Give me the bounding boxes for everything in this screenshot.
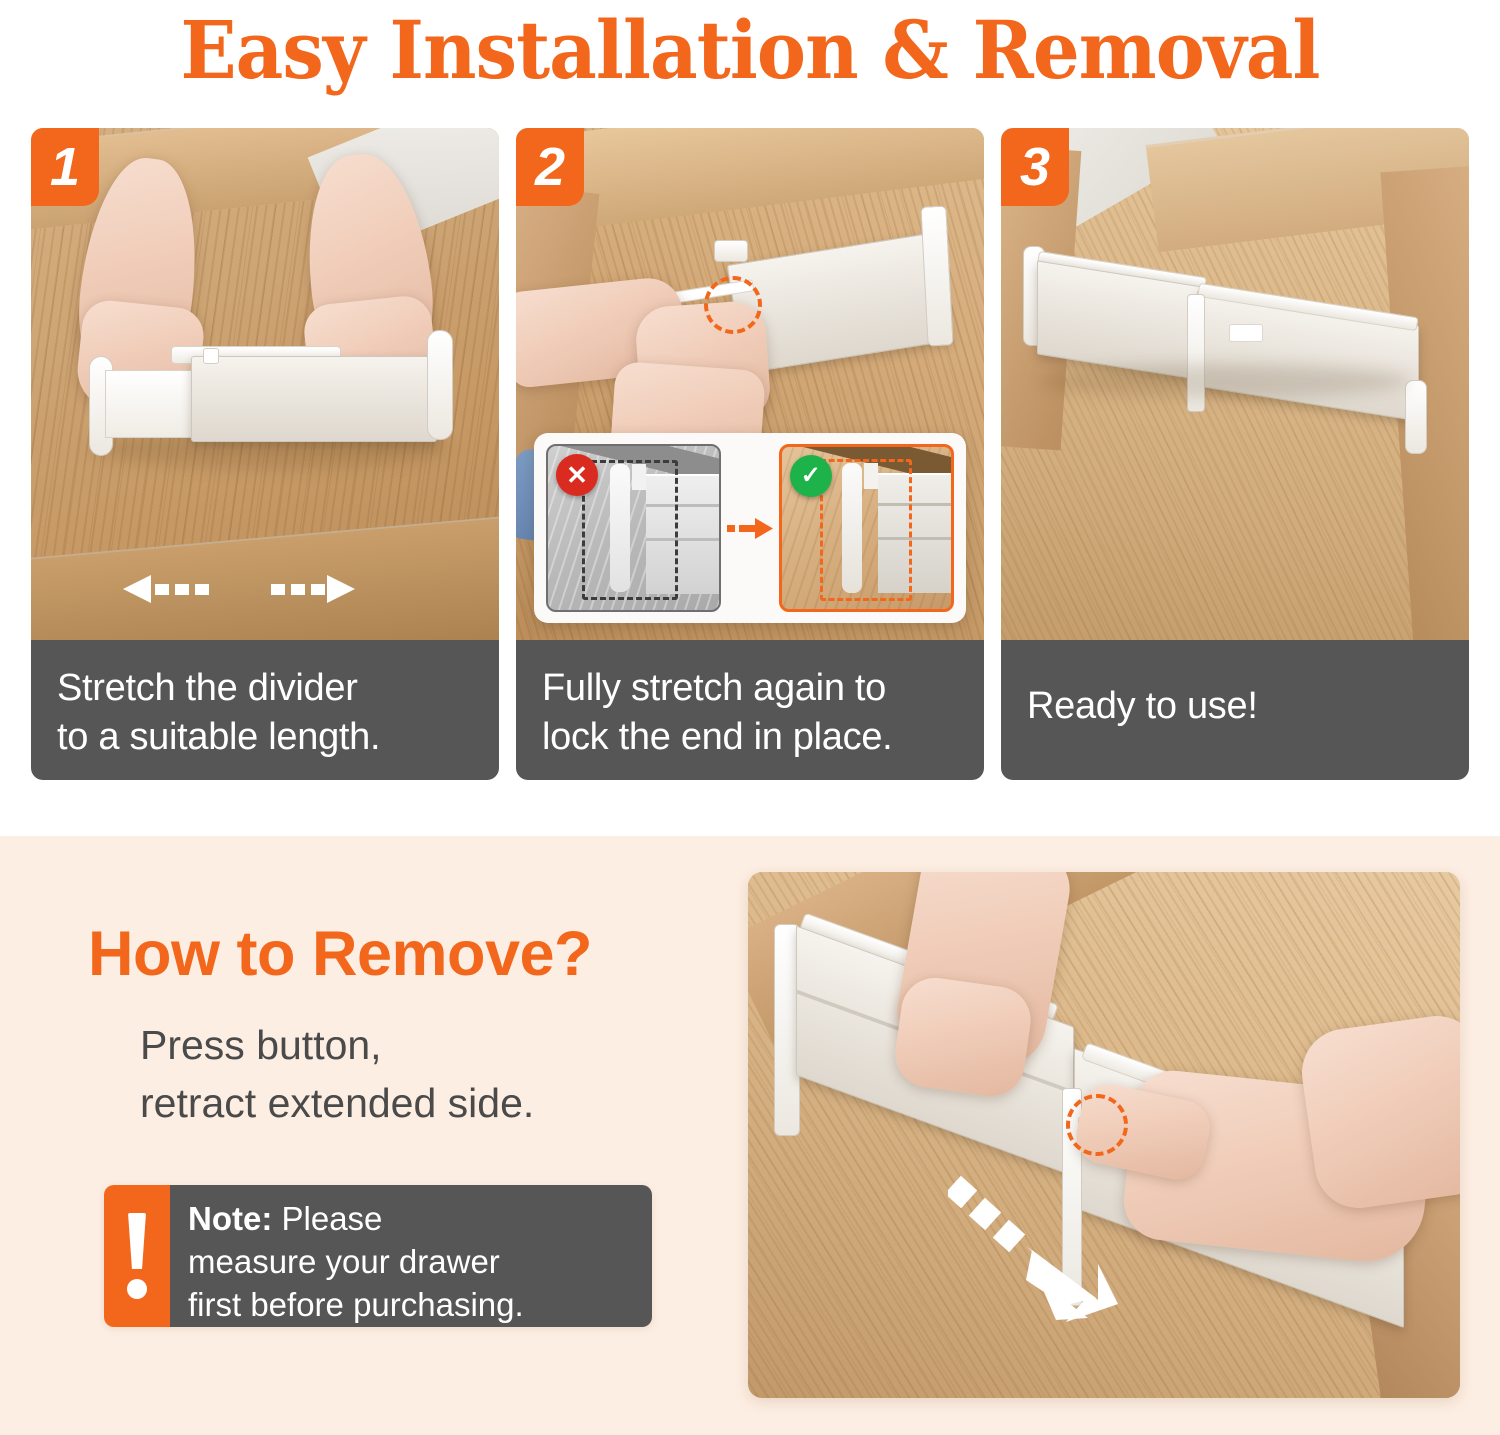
note-label: Note: <box>188 1200 272 1237</box>
press-button-highlight-icon <box>1066 1094 1128 1156</box>
how-to-remove-photo <box>748 872 1460 1398</box>
compare-arrow-icon <box>721 444 779 612</box>
stretch-direction-icon <box>123 572 355 606</box>
how-to-remove-subtext: Press button, retract extended side. <box>140 1016 534 1132</box>
step-1-number: 1 <box>31 128 99 206</box>
step-panel-3: 3 Ready to use! <box>1001 128 1469 780</box>
step-2-number: 2 <box>516 128 584 206</box>
x-mark-icon: ✕ <box>556 454 598 496</box>
check-mark-icon: ✓ <box>790 455 832 497</box>
infographic-page: Easy Installation & Removal <box>0 0 1500 1435</box>
step-3-photo <box>1001 128 1469 648</box>
step-1-photo <box>31 128 499 648</box>
retract-direction-icon <box>948 1172 1118 1322</box>
page-title: Easy Installation & Removal <box>60 2 1440 98</box>
step-1-caption: Stretch the divider to a suitable length… <box>31 640 499 780</box>
step-panel-1: 1 Stretch the divider to a suitable leng… <box>31 128 499 780</box>
compare-card: ✕ ✓ <box>534 433 966 623</box>
step-2-caption: Fully stretch again to lock the end in p… <box>516 640 984 780</box>
note-text: Note: Please measure your drawer first b… <box>170 1185 652 1327</box>
step-3-caption: Ready to use! <box>1001 640 1469 780</box>
step-panel-2: ✕ ✓ <box>516 128 984 780</box>
step-3-number: 3 <box>1001 128 1069 206</box>
compare-bad-image: ✕ <box>546 444 721 612</box>
exclamation-icon <box>104 1185 170 1327</box>
compare-good-image: ✓ <box>779 444 954 612</box>
note-box: Note: Please measure your drawer first b… <box>104 1185 652 1327</box>
steps-row: 1 Stretch the divider to a suitable leng… <box>0 128 1500 780</box>
lock-point-highlight-icon <box>704 276 762 334</box>
how-to-remove-heading: How to Remove? <box>88 918 592 990</box>
